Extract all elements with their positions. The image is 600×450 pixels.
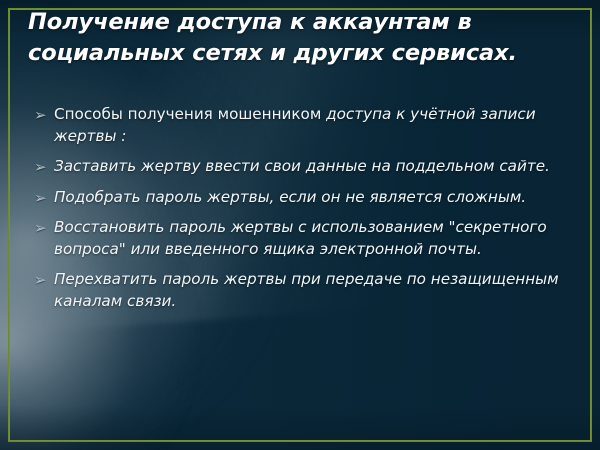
bullet-list-item-1: ➢ Способы получения мошенником доступа к… xyxy=(34,104,568,147)
slide-title-line-2: социальных сетях и других сервисах. xyxy=(28,38,548,69)
bullet-list: ➢ Способы получения мошенником доступа к… xyxy=(34,104,568,312)
arrowhead-bullet-icon: ➢ xyxy=(34,105,47,127)
bullet-item-2-text: Заставить жертву ввести свои данные на п… xyxy=(54,157,550,175)
slide-title: Получение доступа к аккаунтам в социальн… xyxy=(28,7,548,69)
arrowhead-bullet-icon: ➢ xyxy=(34,188,47,210)
presentation-slide: Получение доступа к аккаунтам в социальн… xyxy=(0,0,600,450)
bullet-list-item-3: ➢ Подобрать пароль жертвы, если он не яв… xyxy=(34,187,568,209)
slide-title-line-1: Получение доступа к аккаунтам в xyxy=(28,7,548,38)
slide-content: Получение доступа к аккаунтам в социальн… xyxy=(0,0,600,450)
bullet-item-4-text: Восстановить пароль жертвы с использован… xyxy=(54,218,547,258)
arrowhead-bullet-icon: ➢ xyxy=(34,218,47,240)
bullet-list-item-4: ➢ Восстановить пароль жертвы с использов… xyxy=(34,217,568,260)
bullet-list-item-5: ➢ Перехватить пароль жертвы при передаче… xyxy=(34,269,568,312)
arrowhead-bullet-icon: ➢ xyxy=(34,157,47,179)
bullet-item-5-text: Перехватить пароль жертвы при передаче п… xyxy=(54,270,559,310)
bullet-item-3-text: Подобрать пароль жертвы, если он не явля… xyxy=(54,188,526,206)
bullet-list-item-2: ➢ Заставить жертву ввести свои данные на… xyxy=(34,156,568,178)
bullet-item-1-upright-text: Способы получения мошенником xyxy=(54,105,326,123)
arrowhead-bullet-icon: ➢ xyxy=(34,270,47,292)
